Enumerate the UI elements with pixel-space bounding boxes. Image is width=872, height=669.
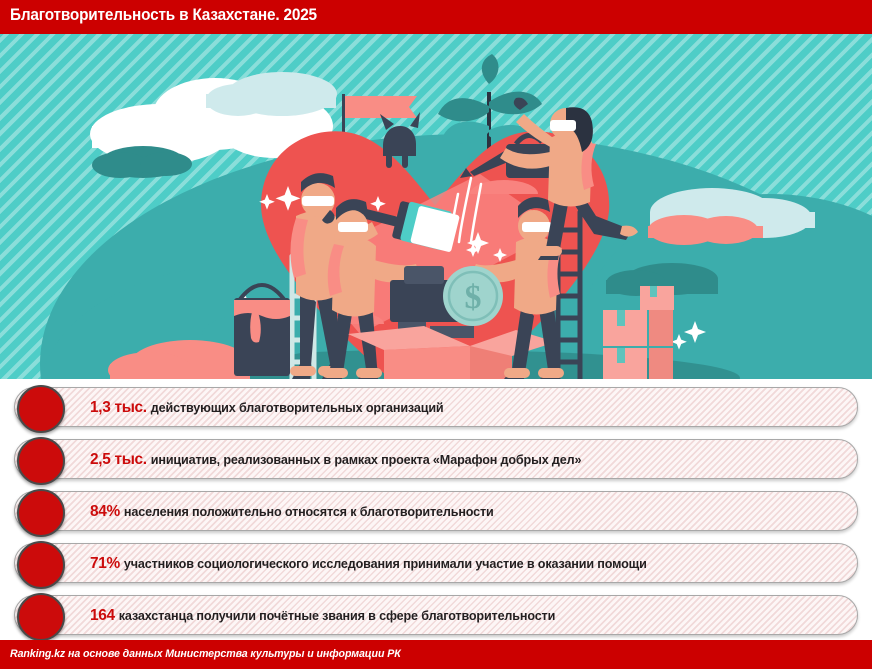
fact-number-2: 2,5 тыс. [90,451,147,469]
fact-number-1: 1,3 тыс. [90,399,147,417]
fact-number-5: 164 [90,607,115,625]
svg-text:$: $ [465,279,482,316]
hero-illustration: $ [0,34,872,379]
fact-row-2: 2,5 тыс. инициатив, реализованных в рамк… [0,439,872,479]
fact-label-1: действующих благотворительных организаци… [151,401,444,415]
fact-pill-1[interactable]: 1,3 тыс. действующих благотворительных о… [14,387,858,427]
fact-bullet-2 [17,437,65,485]
pink-cloud-right [648,215,763,245]
illustration-svg: $ [0,34,872,379]
fact-pill-4[interactable]: 71% участников социологического исследов… [14,543,858,583]
fact-text-2: 2,5 тыс. инициатив, реализованных в рамк… [90,440,831,480]
fact-number-3: 84% [90,503,120,521]
fact-label-2: инициатив, реализованных в рамках проект… [151,453,582,467]
source-attribution: Ranking.kz на основе данных Министерства… [10,648,401,660]
fact-number-4: 71% [90,555,120,573]
footer-bar: Ranking.kz на основе данных Министерства… [0,640,872,669]
infographic-page: Благотворительность в Казахстане. 2025 [0,0,872,669]
fact-bullet-3 [17,489,65,537]
dollar-coin: $ [443,266,503,326]
fact-label-3: населения положительно относятся к благо… [124,505,494,519]
fact-label-4: участников социологического исследования… [124,557,647,571]
fact-row-3: 84% населения положительно относятся к б… [0,491,872,531]
fact-text-5: 164 казахстанца получили почётные звания… [90,596,831,636]
fact-pill-2[interactable]: 2,5 тыс. инициатив, реализованных в рамк… [14,439,858,479]
header-bar: Благотворительность в Казахстане. 2025 [0,0,872,34]
fact-row-4: 71% участников социологического исследов… [0,543,872,583]
paint-bucket [234,285,290,376]
fact-text-1: 1,3 тыс. действующих благотворительных о… [90,388,831,428]
page-title: Благотворительность в Казахстане. 2025 [10,6,317,25]
fact-row-1: 1,3 тыс. действующих благотворительных о… [0,387,872,427]
fact-row-5: 164 казахстанца получили почётные звания… [0,595,872,635]
fact-bullet-1 [17,385,65,433]
fact-bullet-4 [17,541,65,589]
fact-bullet-5 [17,593,65,641]
fact-label-5: казахстанца получили почётные звания в с… [119,609,555,623]
fact-pill-5[interactable]: 164 казахстанца получили почётные звания… [14,595,858,635]
fact-pill-3[interactable]: 84% населения положительно относятся к б… [14,491,858,531]
facts-list: 1,3 тыс. действующих благотворительных о… [0,379,872,637]
fact-text-4: 71% участников социологического исследов… [90,544,831,584]
fact-text-3: 84% населения положительно относятся к б… [90,492,831,532]
